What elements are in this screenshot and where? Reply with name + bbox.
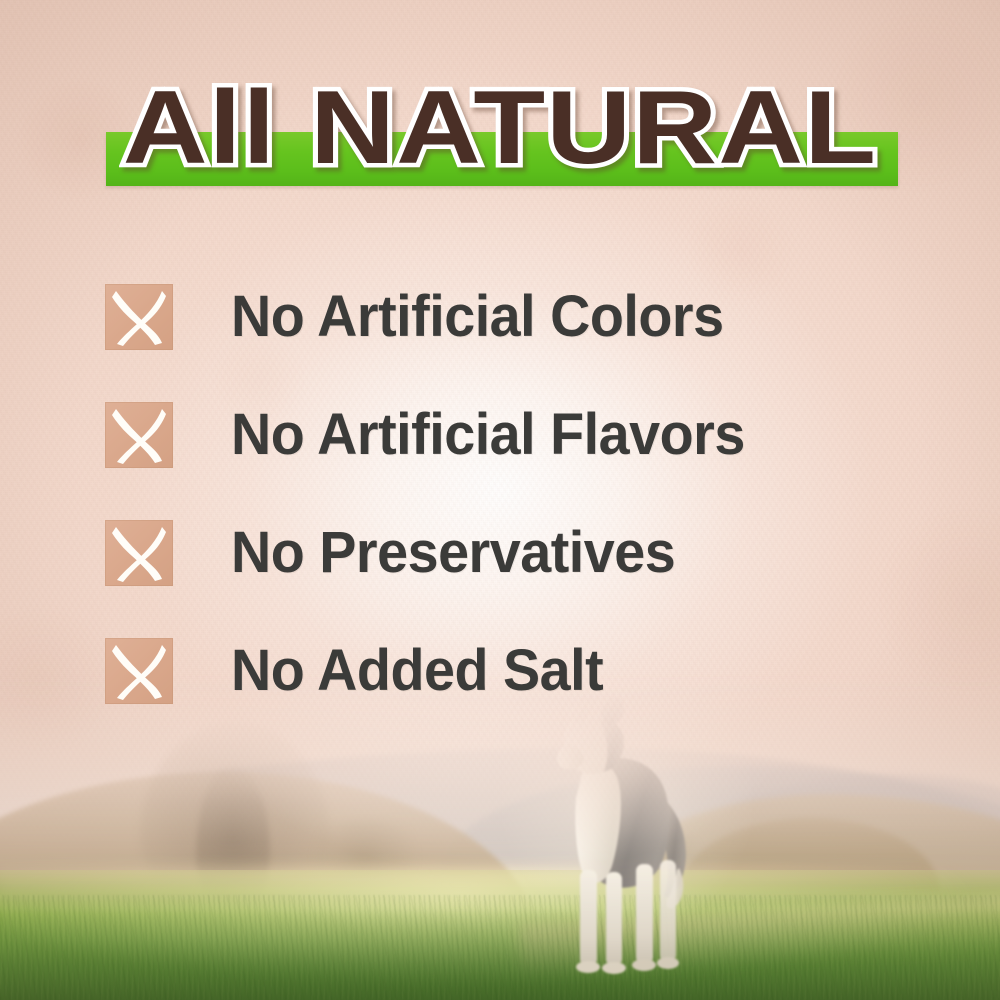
- x-mark-icon: [105, 638, 173, 704]
- headline-banner: All NATURAL: [0, 72, 1000, 194]
- grass-foreground-shadow: [0, 908, 1000, 1000]
- x-mark-icon: [105, 520, 173, 586]
- headline-text: All NATURAL: [0, 72, 1000, 184]
- claim-label: No Preservatives: [231, 522, 675, 584]
- claim-row: No Added Salt: [105, 612, 905, 730]
- claim-row: No Preservatives: [105, 494, 905, 612]
- claim-label: No Added Salt: [231, 640, 603, 702]
- claim-row: No Artificial Flavors: [105, 376, 905, 494]
- claim-label: No Artificial Flavors: [231, 404, 745, 466]
- product-feature-panel: All NATURAL No Artificial Colors No Arti…: [0, 0, 1000, 1000]
- x-mark-icon: [105, 284, 173, 350]
- claim-label: No Artificial Colors: [231, 286, 724, 348]
- claim-row: No Artificial Colors: [105, 258, 905, 376]
- claims-list: No Artificial Colors No Artificial Flavo…: [105, 258, 905, 730]
- x-mark-icon: [105, 402, 173, 468]
